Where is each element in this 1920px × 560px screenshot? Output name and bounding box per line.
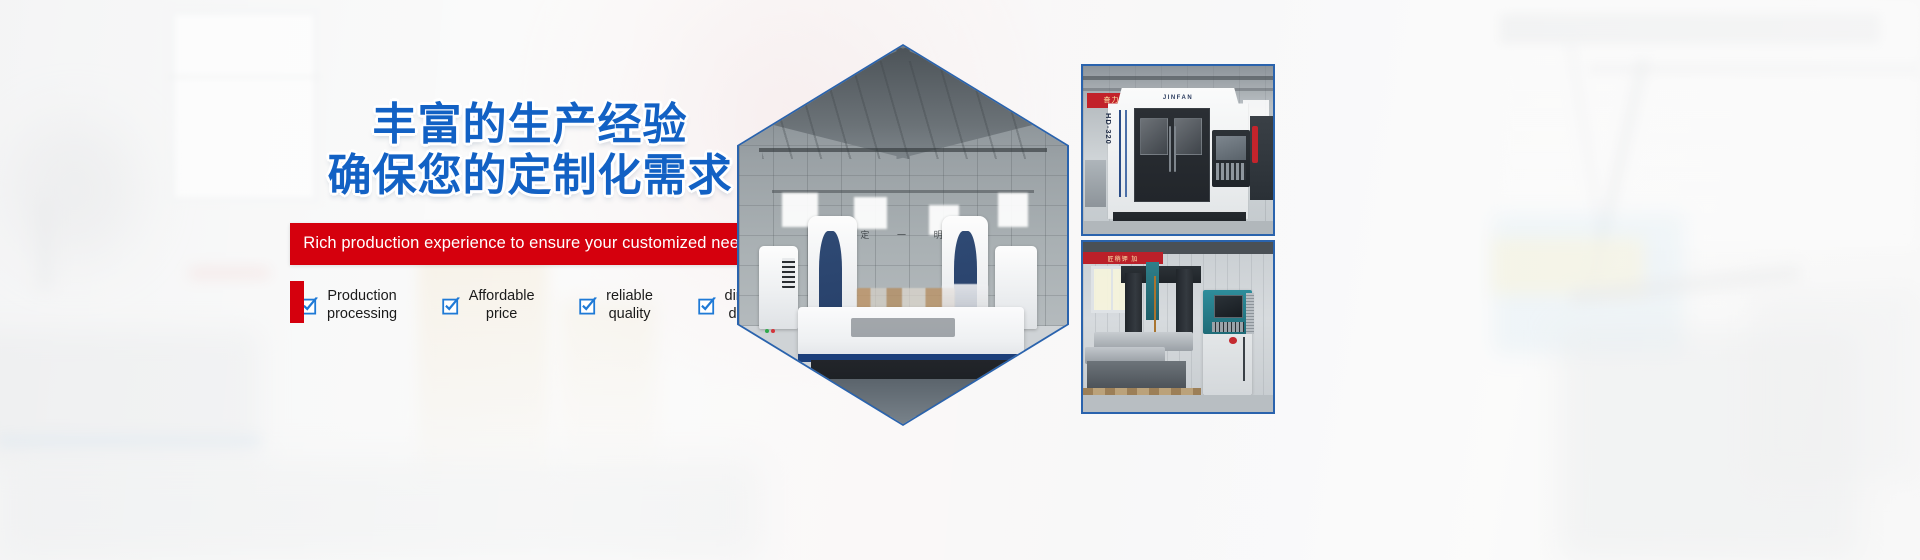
workshop-machine-panel (782, 258, 795, 288)
feature-item-reliable-quality: reliable quality (579, 287, 653, 324)
workshop-beam-secondary (772, 190, 1034, 193)
thumb1-machine-doors (1134, 108, 1210, 202)
thumb2-cabinet-vent (1246, 293, 1254, 334)
thumb1-blue-stripe-secondary (1125, 110, 1127, 197)
workshop-window (998, 193, 1028, 227)
promo-banner: 丰富的生产经验 确保您的定制化需求 Rich production experi… (0, 0, 1920, 560)
workshop-beam (759, 148, 1048, 152)
thumb2-control-screen (1214, 295, 1243, 319)
red-button-icon (771, 329, 775, 333)
cnc-machining-center-photo: 奋力 JINFAN HD-320 (1081, 64, 1275, 236)
subtitle-red-bar: Rich production experience to ensure you… (290, 223, 770, 265)
thumb1-side-cabinet (1085, 160, 1106, 207)
workshop-wall-signage: 定 一 明 (860, 224, 945, 247)
wall-text-left: 定 (860, 228, 872, 241)
feature-label: Affordable price (469, 287, 535, 324)
thumb1-control-screen (1216, 136, 1246, 160)
green-button-icon (765, 329, 769, 333)
headline-line-1: 丰富的生产经验 (290, 100, 770, 149)
workshop-machine-bed-window (851, 318, 956, 337)
thumb1-control-keypad (1216, 163, 1246, 180)
thumb2-gantry-ram (1146, 262, 1159, 320)
thumb1-red-handle (1252, 126, 1258, 163)
thumb2-ground (1083, 395, 1273, 412)
checkbox-checked-icon (579, 296, 598, 315)
thumb1-door-window (1140, 118, 1168, 155)
feature-item-production-processing: Production processing (300, 287, 397, 324)
workshop-machine-buttons (765, 326, 788, 337)
checkbox-checked-icon (698, 296, 717, 315)
gantry-edm-machine-photo: 匠稍钾 加 (1081, 240, 1275, 414)
feature-label: Production processing (327, 287, 397, 324)
checkbox-checked-icon (442, 296, 461, 315)
feature-list: Production processing Affordable price (290, 287, 770, 324)
thumb2-power-cord (1243, 337, 1245, 381)
feature-item-affordable-price: Affordable price (442, 287, 535, 324)
thumb1-roof-beam (1083, 76, 1273, 80)
thumb1-ground (1083, 221, 1273, 234)
thumb1-model-label: HD-320 (1104, 113, 1113, 145)
thumb1-brand-label: JINFAN (1155, 95, 1201, 103)
workshop-floor (739, 379, 1067, 424)
hexagon-photo-clip: 定 一 明 (739, 46, 1067, 424)
workshop-roof-truss (762, 61, 1044, 159)
subtitle-text: Rich production experience to ensure you… (303, 234, 756, 253)
factory-workshop-hexagon-photo: 定 一 明 (737, 44, 1069, 426)
headline-line-2: 确保您的定制化需求 (290, 151, 770, 200)
thumb1-control-panel (1212, 130, 1250, 187)
workshop-scene: 定 一 明 (739, 46, 1067, 424)
thumb1-door-window (1174, 118, 1202, 155)
headline-group: 丰富的生产经验 确保您的定制化需求 (290, 100, 770, 201)
thumb2-control-keypad (1212, 322, 1244, 332)
thumb2-machine-bed (1087, 361, 1186, 388)
wall-text-mid: 一 (897, 228, 909, 241)
banner-copy-block: 丰富的生产经验 确保您的定制化需求 Rich production experi… (290, 100, 770, 324)
feature-label: reliable quality (606, 287, 653, 324)
thumb1-blue-stripe (1119, 110, 1121, 197)
emergency-stop-icon (1229, 337, 1237, 344)
red-bar-sliver (290, 281, 304, 323)
